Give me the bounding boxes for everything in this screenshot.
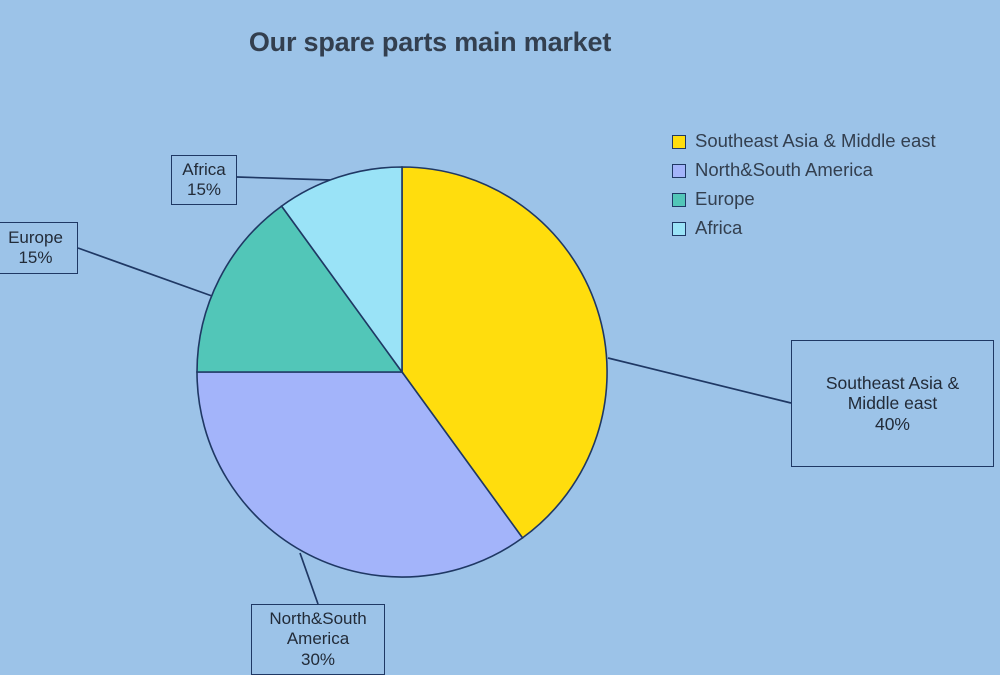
leader-line-southeast-asia <box>608 358 791 403</box>
callout-southeast-asia-text: Southeast Asia & Middle east 40% <box>826 373 959 435</box>
chart-legend: Southeast Asia & Middle east North&South… <box>672 127 972 243</box>
leader-line-north-south-america <box>300 553 318 604</box>
legend-item-africa[interactable]: Africa <box>672 214 972 243</box>
legend-swatch-icon <box>672 222 686 236</box>
legend-item-europe[interactable]: Europe <box>672 185 972 214</box>
pie-slices <box>197 167 607 577</box>
pie-chart-figure: Our spare parts main market Southeast As… <box>0 0 1000 675</box>
legend-item-north-south-america[interactable]: North&South America <box>672 156 972 185</box>
callout-north-south-america-text: North&South America 30% <box>269 609 366 669</box>
legend-label: Southeast Asia & Middle east <box>695 132 936 151</box>
callout-north-south-america[interactable]: North&South America 30% <box>251 604 385 675</box>
callout-africa[interactable]: Africa 15% <box>171 155 237 205</box>
callout-europe[interactable]: Europe 15% <box>0 222 78 274</box>
callout-europe-text: Europe 15% <box>8 228 63 268</box>
pie-chart-graphic <box>0 0 1000 675</box>
leader-line-europe <box>78 248 212 296</box>
legend-label: Africa <box>695 219 742 238</box>
legend-swatch-icon <box>672 135 686 149</box>
legend-swatch-icon <box>672 164 686 178</box>
legend-label: North&South America <box>695 161 873 180</box>
legend-swatch-icon <box>672 193 686 207</box>
callout-africa-text: Africa 15% <box>182 160 225 200</box>
legend-item-southeast-asia[interactable]: Southeast Asia & Middle east <box>672 127 972 156</box>
callout-southeast-asia[interactable]: Southeast Asia & Middle east 40% <box>791 340 994 467</box>
leader-line-africa <box>237 177 330 180</box>
legend-label: Europe <box>695 190 755 209</box>
